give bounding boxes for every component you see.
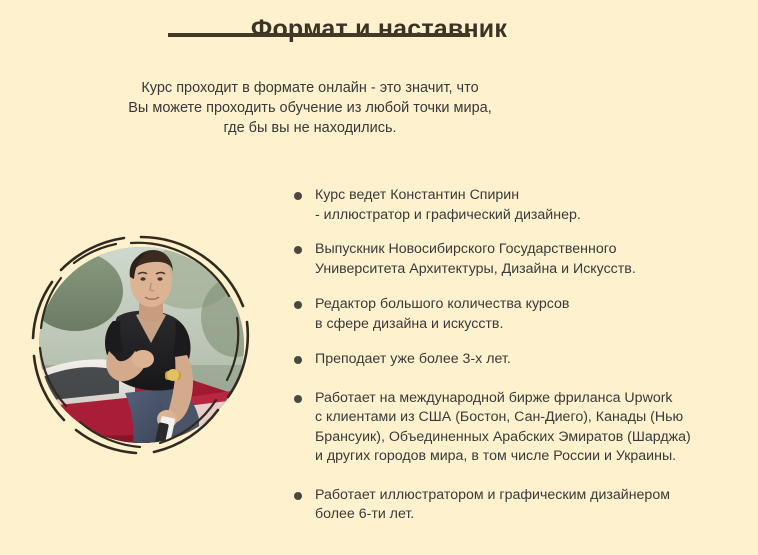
list-item-line: Редактор большого количества курсов: [315, 295, 742, 315]
list-item-text: Преподает уже более 3-х лет.: [315, 350, 742, 370]
list-item-line: Работает иллюстратором и графическим диз…: [315, 486, 742, 506]
list-item-line: Работает на международной бирже фриланса…: [315, 389, 742, 409]
bullet-dot-icon: [294, 492, 302, 500]
bullet-dot-icon: [294, 356, 302, 364]
list-item-line: Выпускник Новосибирского Государственног…: [315, 240, 742, 260]
list-item: Работает иллюстратором и графическим диз…: [292, 486, 742, 525]
intro-line: где бы вы не находились.: [60, 118, 560, 138]
list-item-line: Преподает уже более 3-х лет.: [315, 350, 742, 370]
list-item-line: - иллюстратор и графический дизайнер.: [315, 206, 742, 226]
bullet-dot-icon: [294, 246, 302, 254]
list-item: Выпускник Новосибирского Государственног…: [292, 240, 742, 279]
list-item-line: Брансуик), Объединенных Арабских Эмирато…: [315, 428, 742, 448]
decorative-ring: [28, 234, 254, 456]
list-item: Курс ведет Константин Спирин - иллюстрат…: [292, 186, 742, 225]
list-item-text: Выпускник Новосибирского Государственног…: [315, 240, 742, 279]
bullet-dot-icon: [294, 395, 302, 403]
list-item-line: и других городов мира, в том числе Росси…: [315, 447, 742, 467]
list-item: Редактор большого количества курсов в сф…: [292, 295, 742, 334]
intro-paragraph: Курс проходит в формате онлайн - это зна…: [60, 78, 560, 138]
title-underline-rule: [168, 33, 470, 37]
page-title: Формат и наставник: [0, 14, 758, 44]
list-item: Преподает уже более 3-х лет.: [292, 350, 742, 370]
list-item-line: в сфере дизайна и искусств.: [315, 315, 742, 335]
intro-line: Курс проходит в формате онлайн - это зна…: [60, 78, 560, 98]
list-item-text: Курс ведет Константин Спирин - иллюстрат…: [315, 186, 742, 225]
slide-header: Формат и наставник: [0, 14, 758, 44]
bullet-dot-icon: [294, 301, 302, 309]
intro-line: Вы можете проходить обучение из любой то…: [60, 98, 560, 118]
list-item-line: Курс ведет Константин Спирин: [315, 186, 742, 206]
list-item-line: более 6-ти лет.: [315, 505, 742, 525]
list-item-text: Работает иллюстратором и графическим диз…: [315, 486, 742, 525]
list-item: Работает на международной бирже фриланса…: [292, 389, 742, 467]
list-item-line: с клиентами из США (Бостон, Сан-Диего), …: [315, 408, 742, 428]
list-item-line: Университета Архитектуры, Дизайна и Иску…: [315, 260, 742, 280]
instructor-bullet-list: Курс ведет Константин Спирин - иллюстрат…: [292, 186, 742, 525]
instructor-portrait: [28, 234, 254, 456]
list-item-text: Работает на международной бирже фриланса…: [315, 389, 742, 467]
slide-root: Формат и наставник Курс проходит в форма…: [0, 0, 758, 555]
bullet-dot-icon: [294, 192, 302, 200]
list-item-text: Редактор большого количества курсов в сф…: [315, 295, 742, 334]
